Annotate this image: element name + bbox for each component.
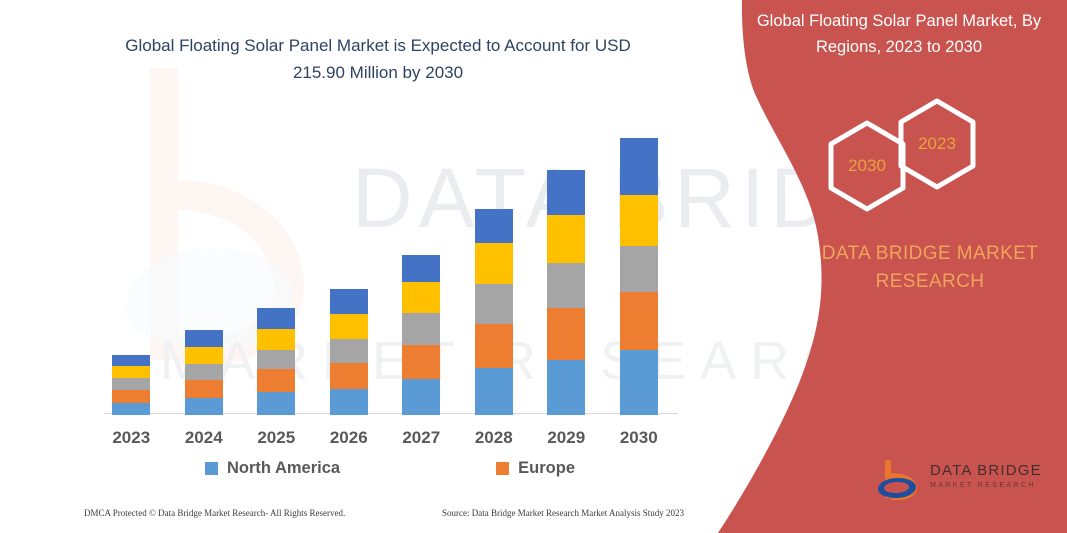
bar-segment [620,195,658,246]
stacked-bar [402,255,440,415]
bar-segment [185,347,223,364]
footer-copyright: DMCA Protected © Data Bridge Market Rese… [84,508,345,518]
stacked-bar [620,138,658,415]
bar-segment [257,308,295,329]
bar-segment [257,350,295,369]
bar-segment [547,360,585,415]
bar-column [458,120,530,415]
bar-segment [620,138,658,195]
bar-segment [330,389,368,415]
legend-item[interactable]: North America [205,459,340,478]
stacked-bar-chart [95,120,675,415]
bar-segment [547,170,585,215]
bar-segment [402,379,440,415]
bar-segment [330,314,368,339]
bar-column [95,120,167,415]
bar-segment [475,284,513,324]
bar-segment [402,345,440,379]
bar-column [603,120,675,415]
legend-label: Europe [518,459,575,478]
bar-segment [475,324,513,368]
bar-segment [257,392,295,415]
x-axis-label: 2030 [603,428,675,454]
chart-legend: North AmericaEurope [205,455,575,481]
dbmr-logo-wordmark: DATA BRIDGE MARKET RESEARCH [930,462,1054,489]
stacked-bar [330,289,368,415]
bar-segment [185,380,223,398]
bar-segment [185,398,223,415]
bar-segment [112,366,150,378]
bar-segment [330,289,368,314]
brand-name: DATA BRIDGE MARKET RESEARCH [790,240,1067,296]
x-axis-label: 2025 [240,428,312,454]
stacked-bar [257,308,295,415]
bar-segment [547,263,585,308]
x-axis-label: 2029 [530,428,602,454]
bar-segment [112,390,150,403]
dbmr-logo-mark-icon [876,458,922,504]
infographic-root: DATA BRIDGE MARKET RESEARCH Global Float… [0,0,1067,533]
x-axis-label: 2027 [385,428,457,454]
x-axis-label: 2024 [168,428,240,454]
footer: DMCA Protected © Data Bridge Market Rese… [84,508,684,518]
bar-segment [112,355,150,366]
legend-label: North America [227,459,340,478]
x-axis-label: 2023 [95,428,167,454]
stacked-bar [112,355,150,415]
bar-segment [185,364,223,380]
x-axis-labels: 20232024202520262027202820292030 [95,428,675,454]
bar-segment [475,209,513,243]
panel-title: Global Floating Solar Panel Market, By R… [744,8,1054,60]
hexagon-badges: 2030 2023 [816,96,996,214]
stacked-bar [475,209,513,415]
x-axis-label: 2028 [458,428,530,454]
dbmr-wordmark-line1: DATA BRIDGE [930,462,1054,479]
bar-column [530,120,602,415]
bar-column [313,120,385,415]
legend-swatch-icon [205,462,218,475]
bar-column [385,120,457,415]
brand-name-line1: DATA BRIDGE MARKET [790,240,1067,268]
chart-plot-area [95,120,675,415]
hexagon-badge-2023: 2023 [894,96,980,192]
bar-segment [620,350,658,415]
dbmr-wordmark-line2: MARKET RESEARCH [930,482,1054,489]
stacked-bar [547,170,585,415]
stacked-bar [185,330,223,415]
bar-segment [112,403,150,415]
bar-segment [547,215,585,263]
bar-segment [402,282,440,313]
hexagon-label-2023: 2023 [894,134,980,154]
page-title: Global Floating Solar Panel Market is Ex… [118,32,638,86]
bar-segment [112,378,150,390]
bar-segment [330,363,368,389]
legend-swatch-icon [496,462,509,475]
bar-segment [547,308,585,360]
legend-item[interactable]: Europe [496,459,575,478]
bar-segment [620,292,658,350]
bar-segment [185,330,223,347]
bar-segment [475,243,513,284]
x-axis-label: 2026 [313,428,385,454]
bar-segment [620,246,658,292]
bar-column [168,120,240,415]
bar-segment [402,313,440,345]
bar-segment [257,329,295,350]
bar-segment [330,339,368,363]
bar-segment [475,368,513,415]
bar-segment [257,369,295,392]
brand-name-line2: RESEARCH [790,268,1067,296]
footer-source: Source: Data Bridge Market Research Mark… [442,508,684,518]
bar-segment [402,255,440,282]
dbmr-logo: DATA BRIDGE MARKET RESEARCH [876,458,1052,506]
bar-column [240,120,312,415]
